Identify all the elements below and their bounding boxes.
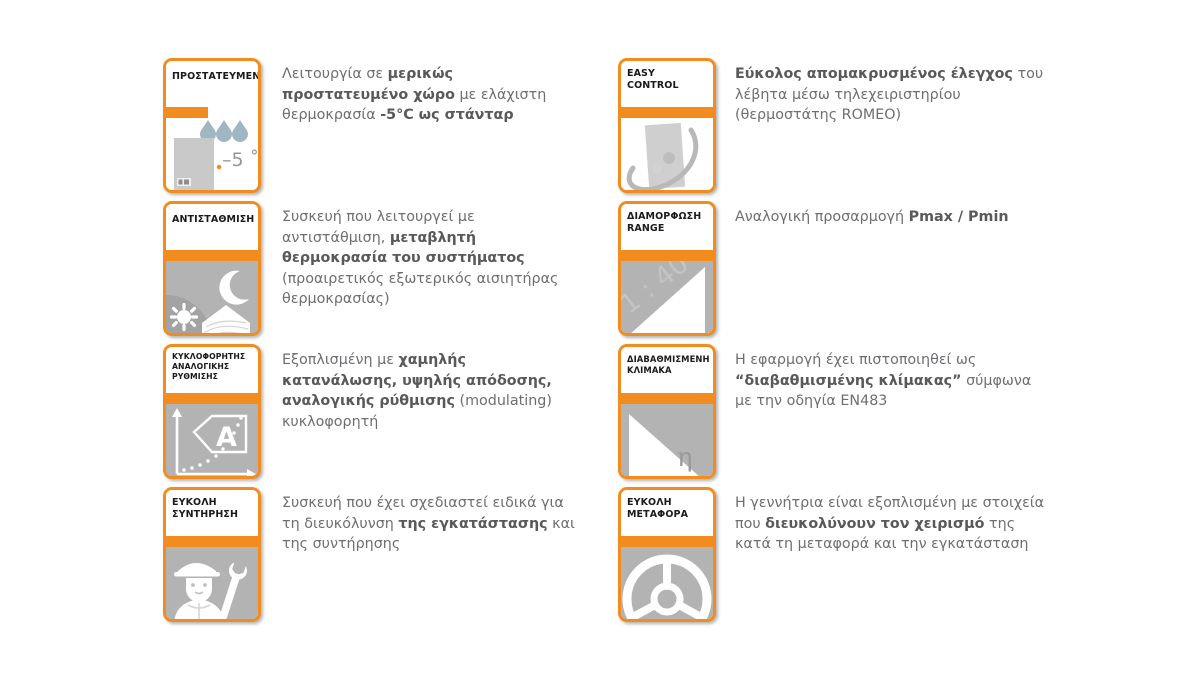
feature-description: Εξοπλισμένη με χαμηλής κατανάλωσης, υψηλ… <box>282 350 582 432</box>
badge-graduated-scale[interactable]: ΔΙΑΒΑΘΜΙΣΜΕΝΗΚΛΙΜΑΚΑη <box>618 344 716 479</box>
badge-accent-bar <box>166 107 208 118</box>
feature-row: ΚΥΚΛΟΦΟΡΗΤΗΣΑΝΑΛΟΓΙΚΗΣΡΥΘΜΙΣΗΣAΕξοπλισμέ… <box>163 344 583 487</box>
badge-accent-bar <box>621 393 713 404</box>
remote-control-icon <box>621 118 713 193</box>
badge-accent-bar <box>166 250 258 261</box>
badge-accent-bar <box>621 250 713 261</box>
energy-class-a-graph-icon: A <box>166 404 258 479</box>
badge-accent-bar <box>621 107 713 118</box>
feature-sheet: ΠΡΟΣΤΑΤΕΥΜΕΝΟ–5 ˚CΛειτουργία σε μερικώς … <box>0 0 1200 700</box>
badge-artwork <box>166 261 258 336</box>
badge-easy-maintenance[interactable]: ΕΥΚΟΛΗΣΥΝΤΗΡΗΣΗ <box>163 487 261 622</box>
badge-easy-control[interactable]: EASYCONTROL <box>618 58 716 193</box>
feature-row: ΔΙΑΒΑΘΜΙΣΜΕΝΗΚΛΙΜΑΚΑηΗ εφαρμογή έχει πισ… <box>618 344 1048 487</box>
svg-text:η: η <box>677 443 693 473</box>
badge-label: ΔΙΑΒΑΘΜΙΣΜΕΝΗΚΛΙΜΑΚΑ <box>621 347 713 393</box>
badge-label: ΕΥΚΟΛΗΜΕΤΑΦΟΡΑ <box>621 490 713 536</box>
badge-accent-bar <box>166 393 258 404</box>
badge-modulating-pump[interactable]: ΚΥΚΛΟΦΟΡΗΤΗΣΑΝΑΛΟΓΙΚΗΣΡΥΘΜΙΣΗΣA <box>163 344 261 479</box>
feature-description: Η εφαρμογή έχει πιστοποιηθεί ως “διαβαθμ… <box>735 350 1047 412</box>
feature-row: EASYCONTROLΕύκολος απομακρυσμένος έλεγχο… <box>618 58 1048 201</box>
efficiency-eta-triangle-icon: η <box>621 404 713 479</box>
feature-row: ΑΝΤΙΣΤΑΘΜΙΣΗΣυσκευή που λειτουργεί με αν… <box>163 201 583 344</box>
feature-description: Η γεννήτρια είναι εξοπλισμένη με στοιχεί… <box>735 493 1047 555</box>
badge-weather-compensation[interactable]: ΑΝΤΙΣΤΑΘΜΙΣΗ <box>163 201 261 336</box>
badge-protected[interactable]: ΠΡΟΣΤΑΤΕΥΜΕΝΟ–5 ˚C <box>163 58 261 193</box>
technician-wrench-icon <box>166 547 258 622</box>
badge-label: ΔΙΑΜΟΡΦΩΣΗRANGE <box>621 204 713 250</box>
badge-label: ΑΝΤΙΣΤΑΘΜΙΣΗ <box>166 204 258 250</box>
badge-modulation-range[interactable]: ΔΙΑΜΟΡΦΩΣΗRANGE1 : 40 <box>618 201 716 336</box>
badge-label: ΠΡΟΣΤΑΤΕΥΜΕΝΟ <box>166 61 258 107</box>
badge-artwork: –5 ˚C <box>166 118 258 193</box>
feature-row: ΕΥΚΟΛΗΣΥΝΤΗΡΗΣΗΣυσκευή που έχει σχεδιαστ… <box>163 487 583 630</box>
feature-row: ΕΥΚΟΛΗΜΕΤΑΦΟΡΑΗ γεννήτρια είναι εξοπλισμ… <box>618 487 1048 630</box>
feature-description: Αναλογική προσαρμογή Pmax / Pmin <box>735 207 1047 228</box>
badge-label: ΚΥΚΛΟΦΟΡΗΤΗΣΑΝΑΛΟΓΙΚΗΣΡΥΘΜΙΣΗΣ <box>166 347 258 393</box>
feature-row: ΔΙΑΜΟΡΦΩΣΗRANGE1 : 40Αναλογική προσαρμογ… <box>618 201 1048 344</box>
badge-accent-bar <box>166 536 258 547</box>
badge-artwork: A <box>166 404 258 479</box>
feature-description: Συσκευή που έχει σχεδιαστεί ειδικά για τ… <box>282 493 582 555</box>
badge-accent-bar <box>621 536 713 547</box>
feature-row: ΠΡΟΣΤΑΤΕΥΜΕΝΟ–5 ˚CΛειτουργία σε μερικώς … <box>163 58 583 201</box>
sun-moon-house-icon <box>166 261 258 336</box>
badge-artwork: η <box>621 404 713 479</box>
badge-artwork <box>621 118 713 193</box>
badge-label: EASYCONTROL <box>621 61 713 107</box>
badge-artwork <box>166 547 258 622</box>
svg-text:A: A <box>216 422 237 453</box>
feature-description: Εύκολος απομακρυσμένος έλεγχος του λέβητ… <box>735 64 1047 126</box>
feature-description: Λειτουργία σε μερικώς προστατευμένο χώρο… <box>282 64 582 126</box>
ratio-triangle-icon: 1 : 40 <box>621 261 713 336</box>
badge-easy-transport[interactable]: ΕΥΚΟΛΗΜΕΤΑΦΟΡΑ <box>618 487 716 622</box>
badge-label: ΕΥΚΟΛΗΣΥΝΤΗΡΗΣΗ <box>166 490 258 536</box>
svg-text:–5 ˚C: –5 ˚C <box>222 149 258 171</box>
badge-artwork: 1 : 40 <box>621 261 713 336</box>
badge-artwork <box>621 547 713 622</box>
boiler-frost-icon: –5 ˚C <box>166 118 258 193</box>
left-column: ΠΡΟΣΤΑΤΕΥΜΕΝΟ–5 ˚CΛειτουργία σε μερικώς … <box>163 58 583 630</box>
feature-description: Συσκευή που λειτουργεί με αντιστάθμιση, … <box>282 207 582 310</box>
right-column: EASYCONTROLΕύκολος απομακρυσμένος έλεγχο… <box>618 58 1048 630</box>
steering-wheel-icon <box>621 547 713 622</box>
